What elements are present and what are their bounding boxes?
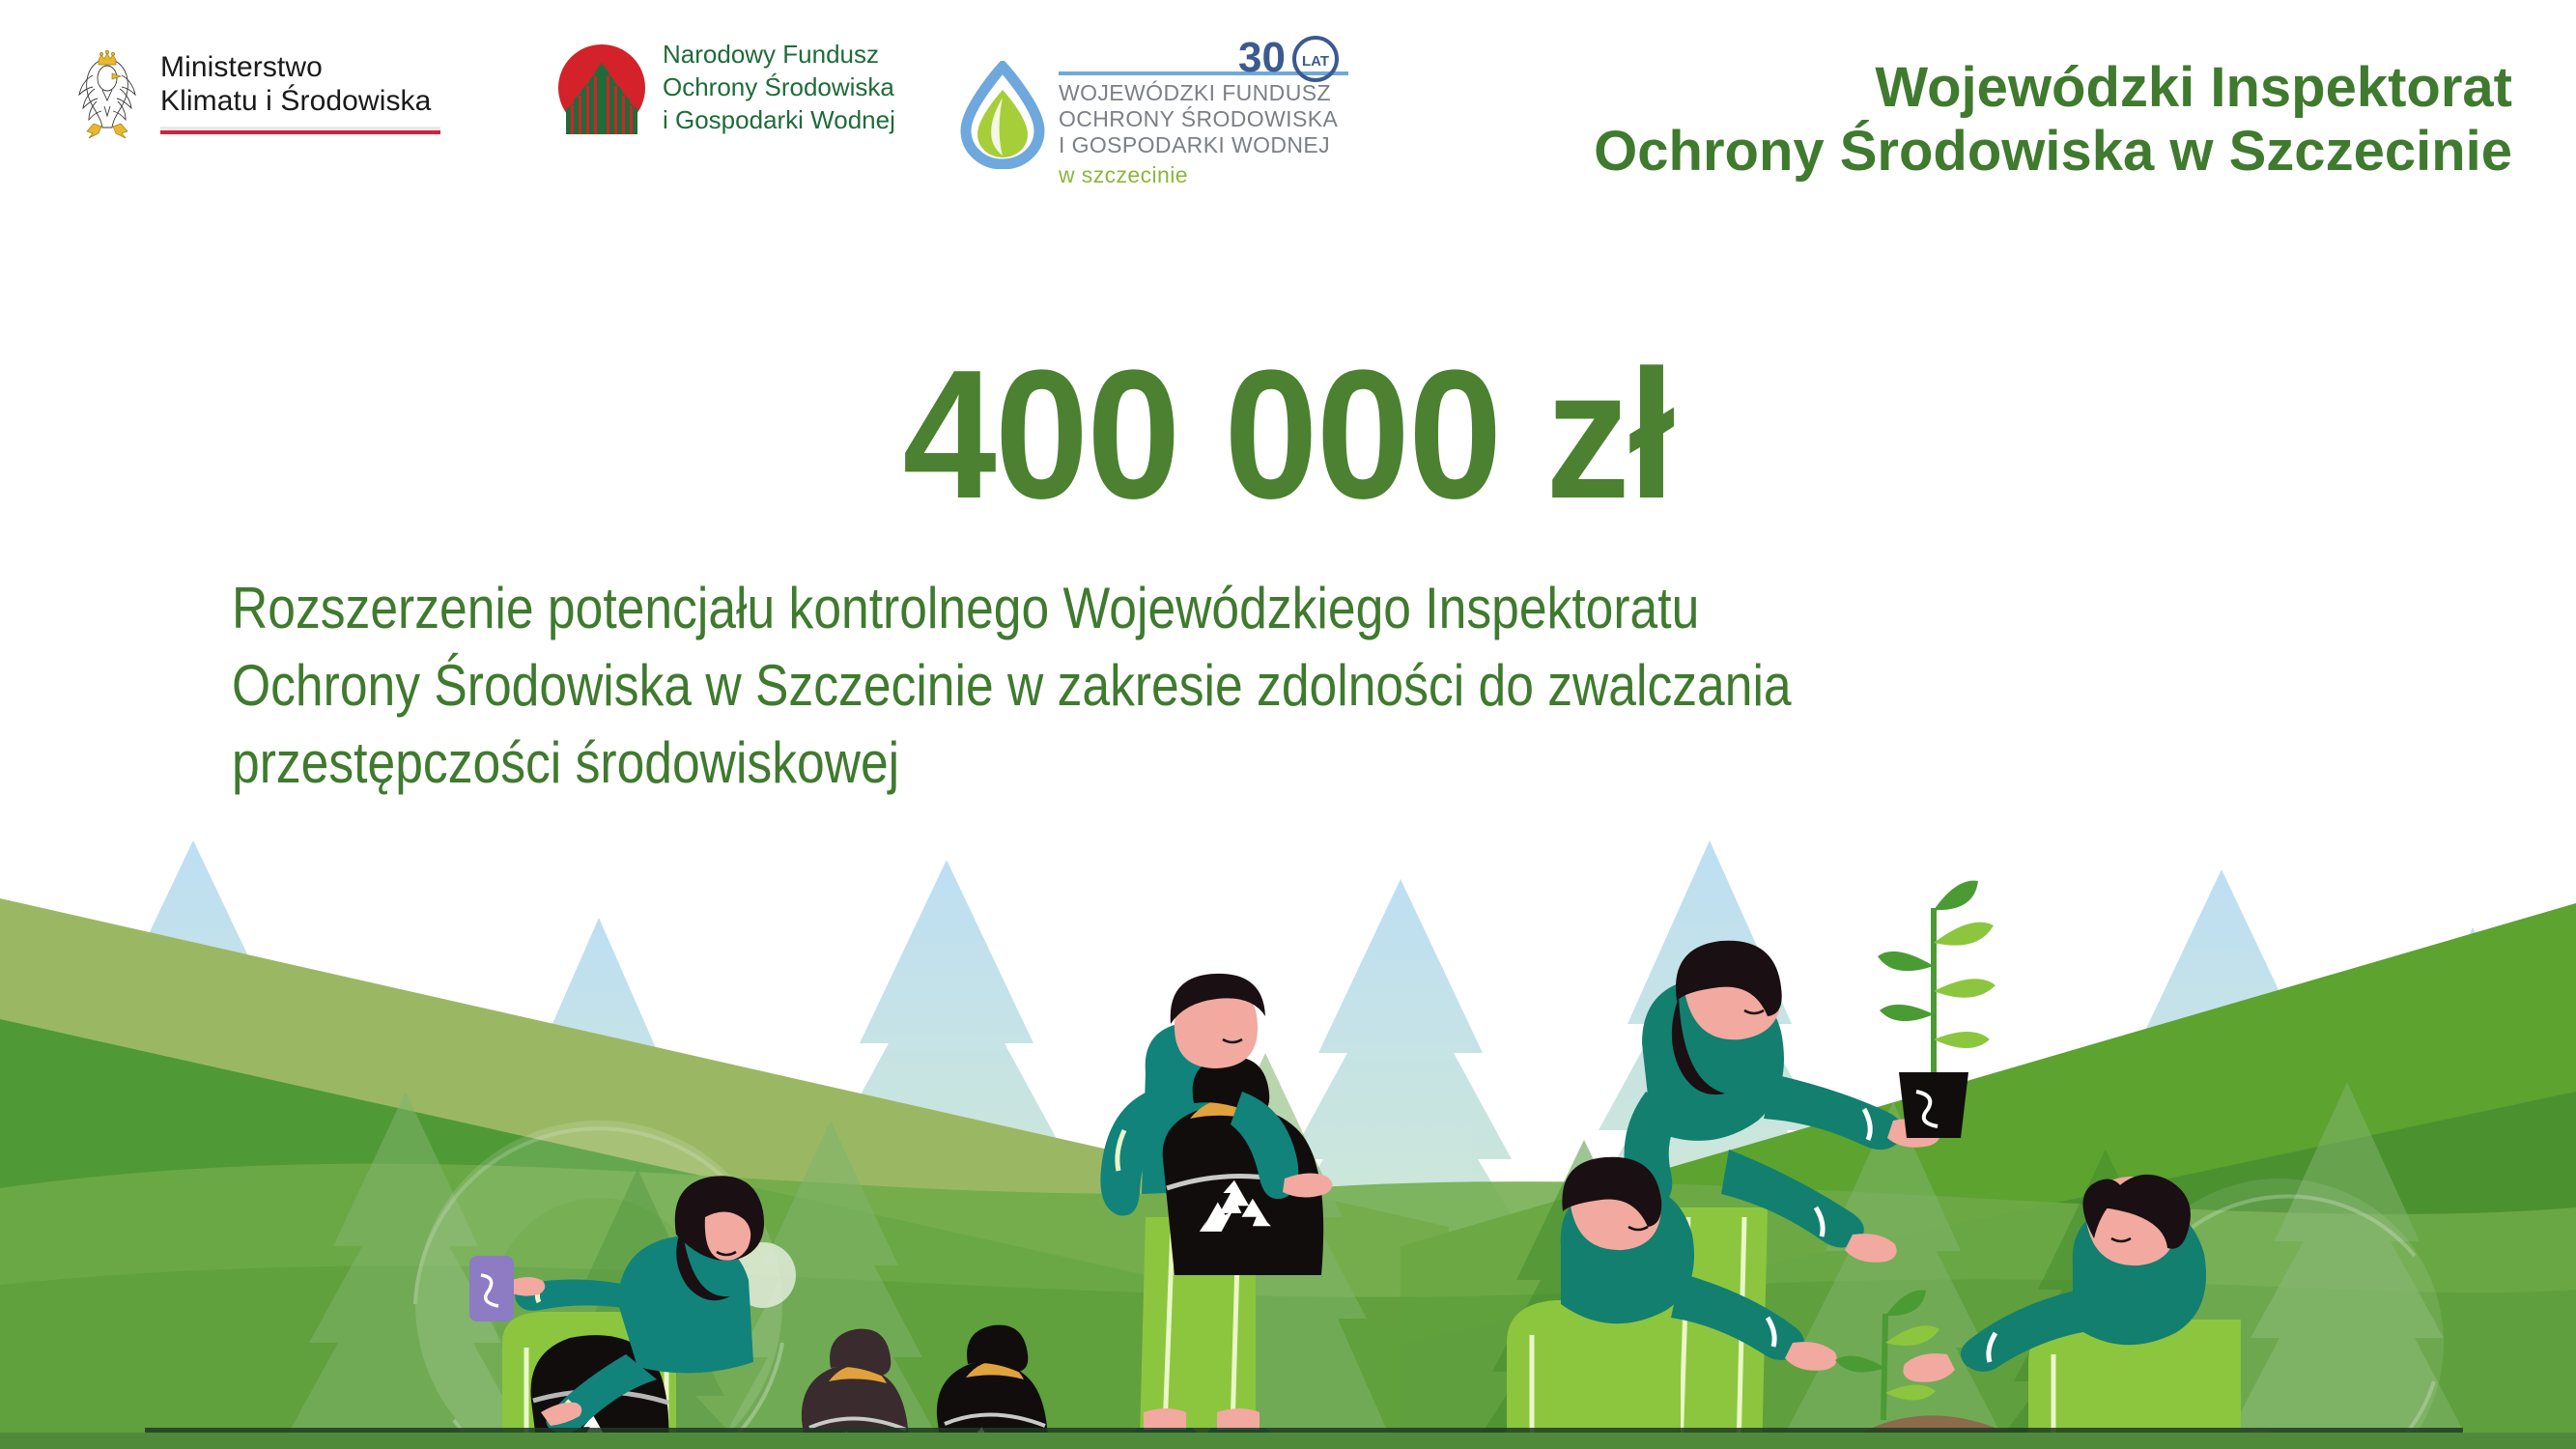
organisation-title-line-2: Ochrony Środowiska w Szczecinie (1594, 120, 2512, 184)
svg-text:LAT: LAT (1302, 53, 1329, 70)
thirty-years-badge-icon: 30 LAT (1236, 33, 1343, 83)
description-line-1: Rozszerzenie potencjału kontrolnego Woje… (232, 570, 2059, 647)
nfosigw-logo: Narodowy Fundusz Ochrony Środowiska i Go… (555, 39, 895, 136)
water-drop-leaf-icon (956, 61, 1049, 169)
header: Ministerstwo Klimatu i Środowiska (0, 0, 2576, 222)
wfosigw-line-1: WOJEWÓDZKI FUNDUSZ (1059, 80, 1348, 106)
nfosigw-line-3: i Gospodarki Wodnej (663, 104, 895, 137)
organisation-title: Wojewódzki Inspektorat Ochrony Środowisk… (1594, 56, 2512, 183)
nfosigw-line-1: Narodowy Fundusz (663, 39, 895, 71)
ministry-logo: Ministerstwo Klimatu i Środowiska (70, 46, 440, 139)
wfosigw-logo-text: 30 LAT WOJEWÓDZKI FUNDUSZ OCHRONY ŚRODOW… (1059, 39, 1348, 190)
ministry-line-2: Klimatu i Środowiska (160, 84, 440, 118)
nfosigw-tree-mark-icon (555, 42, 648, 134)
poster: Ministerstwo Klimatu i Środowiska (0, 0, 2576, 1449)
wfosigw-logo: 30 LAT WOJEWÓDZKI FUNDUSZ OCHRONY ŚRODOW… (956, 39, 1348, 190)
polish-flag-rule (160, 127, 440, 135)
project-description: Rozszerzenie potencjału kontrolnego Woje… (232, 570, 2059, 801)
illustration (0, 802, 2576, 1449)
wfosigw-line-2: OCHRONY ŚRODOWISKA (1059, 106, 1348, 132)
organisation-title-line-1: Wojewódzki Inspektorat (1594, 56, 2512, 120)
ministry-logo-text: Ministerstwo Klimatu i Środowiska (160, 50, 440, 136)
nfosigw-line-2: Ochrony Środowiska (663, 71, 895, 104)
nfosigw-logo-text: Narodowy Fundusz Ochrony Środowiska i Go… (663, 39, 895, 136)
wfosigw-city: w szczecinie (1059, 161, 1348, 190)
wfosigw-line-3: I GOSPODARKI WODNEJ (1059, 132, 1348, 158)
description-line-2: Ochrony Środowiska w Szczecinie w zakres… (232, 647, 2059, 724)
description-line-3: przestępczości środowiskowej (232, 724, 2059, 802)
ministry-line-1: Ministerstwo (160, 50, 440, 84)
polish-eagle-emblem-icon (70, 46, 145, 139)
ground-strip (0, 1433, 2576, 1449)
grant-amount: 400 000 zł (103, 343, 2474, 526)
svg-text:30: 30 (1238, 34, 1286, 81)
ground-line (145, 1428, 2463, 1433)
